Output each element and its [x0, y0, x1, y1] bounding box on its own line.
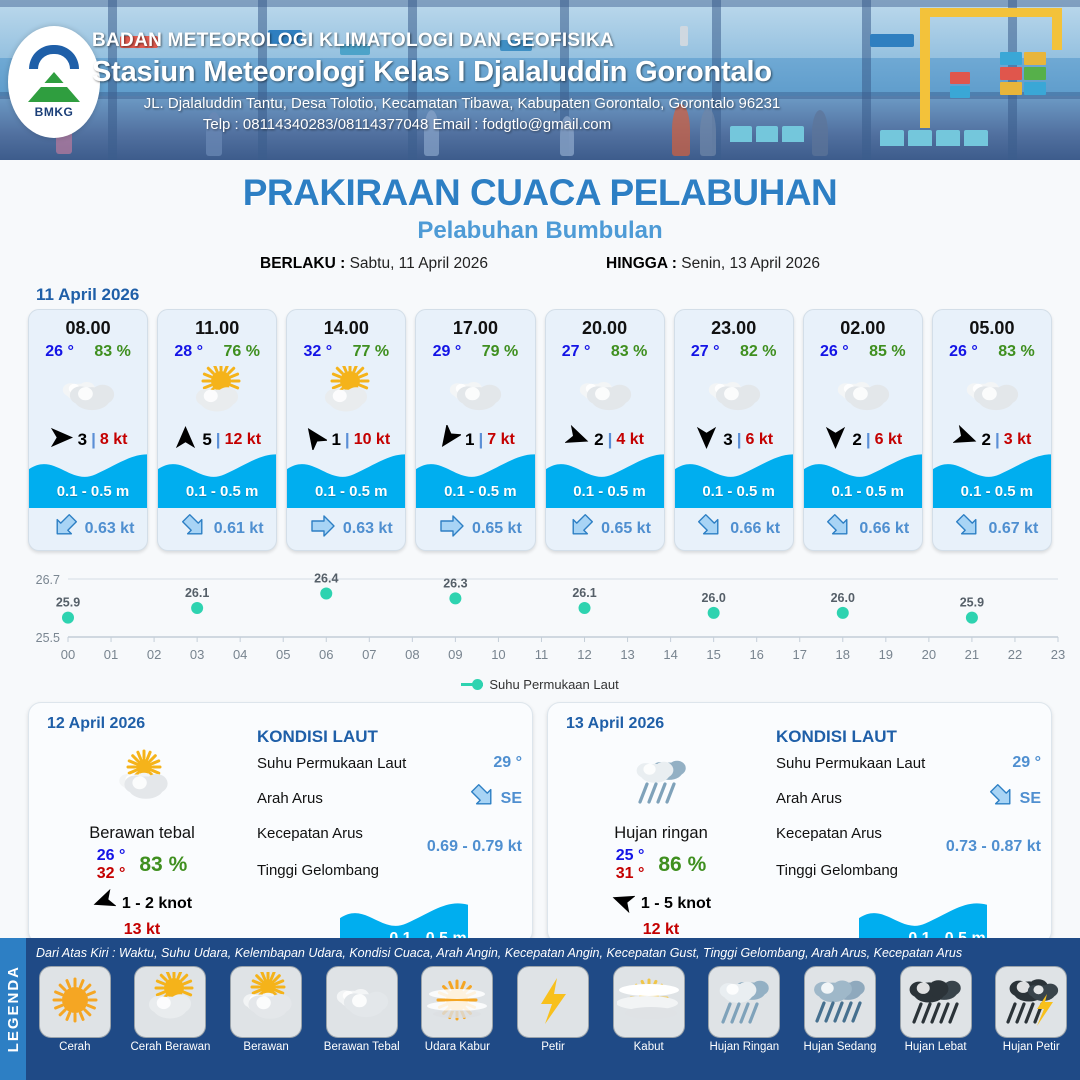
- legend-icon-box: [421, 966, 493, 1038]
- current-direction-arrow-icon: [52, 513, 78, 539]
- crane-icon: [920, 8, 1060, 17]
- card-humidity: 76 %: [224, 343, 260, 361]
- card-temp-hum-row: 29 ° 79 %: [416, 343, 534, 361]
- card-current-direction: [310, 513, 336, 544]
- hourly-forecast-card: 08.00 26 ° 83 % 3 | 8 kt 0.1 - 0.5 m: [28, 309, 148, 551]
- card-wave-zone: 0.1 - 0.5 m: [158, 450, 277, 508]
- legend-item-label: Berawan: [221, 1041, 311, 1053]
- wind-direction-arrow-icon: [436, 425, 461, 450]
- legend-item: Cerah Berawan: [126, 966, 216, 1053]
- cerah-icon: [43, 972, 107, 1033]
- sea-conditions-title: KONDISI LAUT: [776, 727, 1041, 747]
- daily-condition: Hujan ringan: [556, 824, 766, 843]
- legend-icon-box: [230, 966, 302, 1038]
- card-current-direction: [568, 513, 594, 544]
- container-icon: [1000, 52, 1022, 65]
- card-humidity: 83 %: [94, 343, 130, 361]
- svg-text:26.1: 26.1: [572, 586, 596, 600]
- svg-text:18: 18: [836, 647, 850, 662]
- svg-text:26.1: 26.1: [185, 586, 209, 600]
- sea-conditions-title: KONDISI LAUT: [257, 727, 522, 747]
- card-humidity: 79 %: [482, 343, 518, 361]
- card-current-speed: 0.65 kt: [601, 520, 651, 538]
- svg-text:20: 20: [922, 647, 936, 662]
- current-direction-arrow-icon: [955, 513, 981, 539]
- wind-gust-separator: |: [479, 430, 484, 450]
- card-current-speed: 0.66 kt: [859, 520, 909, 538]
- legend-item-label: Cerah Berawan: [126, 1041, 216, 1053]
- card-current-row: 0.61 kt: [158, 513, 277, 544]
- daily-summary: Hujan ringan 25 ° 31 ° 86 % 1 - 5 knot 1…: [556, 743, 766, 939]
- svg-text:05: 05: [276, 647, 290, 662]
- svg-text:22: 22: [1008, 647, 1022, 662]
- card-temperature: 27 °: [562, 343, 591, 361]
- daily-humidity: 83 %: [139, 853, 187, 877]
- svg-text:08: 08: [405, 647, 419, 662]
- card-current-direction: [52, 513, 78, 544]
- card-temperature: 27 °: [691, 343, 720, 361]
- current-direction-row: Arah Arus SE: [776, 783, 1041, 814]
- legend-item: Udara Kabur: [413, 966, 503, 1053]
- card-wave-height: 0.1 - 0.5 m: [804, 483, 923, 500]
- legend-item-label: Hujan Lebat: [891, 1041, 981, 1053]
- card-humidity: 82 %: [740, 343, 776, 361]
- card-wave-zone: 0.1 - 0.5 m: [416, 450, 535, 508]
- card-humidity: 85 %: [869, 343, 905, 361]
- sst-row: Suhu Permukaan Laut 29 °: [257, 754, 522, 772]
- petir-icon: [521, 972, 585, 1033]
- validity-row: BERLAKU : Sabtu, 11 April 2026 HINGGA : …: [0, 255, 1080, 273]
- card-wind-gust: 3 kt: [1004, 431, 1032, 449]
- container-icon: [1024, 82, 1046, 95]
- card-temp-hum-row: 28 ° 76 %: [158, 343, 276, 361]
- card-weather-icon: [416, 365, 534, 421]
- container-icon: [1024, 67, 1046, 80]
- hourly-forecast-card: 11.00 28 ° 76 % 5 | 12 kt 0.1 - 0.5 m: [157, 309, 277, 551]
- card-wave-zone: 0.1 - 0.5 m: [675, 450, 794, 508]
- hujan-sedang-icon: [808, 972, 872, 1033]
- daily-forecast-row: 12 April 2026 Berawan tebal 26 ° 32 ° 83…: [0, 692, 1080, 944]
- current-direction-arrow-icon: [439, 513, 465, 539]
- daily-temp-hum: 25 ° 31 ° 86 %: [556, 847, 766, 883]
- card-wind-gust: 8 kt: [100, 431, 128, 449]
- card-wave-height: 0.1 - 0.5 m: [29, 483, 148, 500]
- card-time: 23.00: [675, 310, 793, 339]
- valid-from: BERLAKU : Sabtu, 11 April 2026: [260, 255, 488, 273]
- sea-conditions: KONDISI LAUT Suhu Permukaan Laut 29 ° Ar…: [776, 727, 1041, 879]
- card-temp-hum-row: 26 ° 83 %: [29, 343, 147, 361]
- legend-icon-box: [708, 966, 780, 1038]
- svg-text:16: 16: [749, 647, 763, 662]
- card-weather-icon: [933, 365, 1051, 421]
- container-icon: [1000, 67, 1022, 80]
- sst-row: Suhu Permukaan Laut 29 °: [776, 754, 1041, 772]
- agency-name: BADAN METEOROLOGI KLIMATOLOGI DAN GEOFIS…: [92, 30, 952, 52]
- legend-item-label: Udara Kabur: [413, 1041, 503, 1053]
- crane-icon: [1052, 8, 1062, 50]
- container-icon: [1000, 82, 1022, 95]
- title-block: PRAKIRAAN CUACA PELABUHAN Pelabuhan Bumb…: [0, 160, 1080, 273]
- card-temp-hum-row: 26 ° 83 %: [933, 343, 1051, 361]
- card-current-row: 0.67 kt: [933, 513, 1052, 544]
- card-wind-speed: 3: [78, 430, 87, 450]
- card-humidity: 83 %: [998, 343, 1034, 361]
- card-weather-icon: [287, 365, 405, 421]
- card-wave-height: 0.1 - 0.5 m: [933, 483, 1052, 500]
- legend-item-label: Cerah: [30, 1041, 120, 1053]
- hourly-forecast-card: 02.00 26 ° 85 % 2 | 6 kt 0.1 - 0.5 m: [803, 309, 923, 551]
- legend-item-label: Petir: [508, 1041, 598, 1053]
- bmkg-logo: BMKG: [8, 26, 100, 138]
- card-wave-zone: 0.1 - 0.5 m: [933, 450, 1052, 508]
- station-contact: Telp : 08114340283/08114377048 Email : f…: [92, 116, 952, 133]
- card-weather-icon: [804, 365, 922, 421]
- current-speed-block: Kecepatan Arus 0.73 - 0.87 kt: [776, 825, 1041, 856]
- card-current-direction: [181, 513, 207, 544]
- daily-condition: Berawan tebal: [37, 824, 247, 843]
- legend-item-label: Hujan Petir: [986, 1041, 1076, 1053]
- svg-text:09: 09: [448, 647, 462, 662]
- current-direction-arrow-icon: [697, 513, 723, 539]
- logo-triangle-icon: [28, 72, 80, 102]
- daily-temp-min: 26 °: [97, 847, 126, 865]
- wind-direction-arrow-icon: [173, 425, 198, 450]
- daily-forecast-panel: 12 April 2026 Berawan tebal 26 ° 32 ° 83…: [28, 702, 533, 944]
- svg-text:26.3: 26.3: [443, 576, 467, 590]
- valid-from-label: BERLAKU :: [260, 255, 345, 272]
- logo-arc-icon: [29, 45, 79, 69]
- sst-label: Suhu Permukaan Laut: [257, 755, 406, 772]
- svg-text:19: 19: [879, 647, 893, 662]
- wind-gust-separator: |: [608, 430, 613, 450]
- daily-weather-icon: [556, 743, 766, 822]
- svg-text:17: 17: [793, 647, 807, 662]
- legend-icon-box: [326, 966, 398, 1038]
- card-temp-hum-row: 32 ° 77 %: [287, 343, 405, 361]
- daily-wind-row: 1 - 5 knot: [556, 889, 766, 918]
- daily-temp-max: 32 °: [97, 865, 126, 883]
- container-icon: [950, 86, 970, 98]
- wind-gust-separator: |: [737, 430, 742, 450]
- legend-label: Suhu Permukaan Laut: [489, 677, 618, 692]
- card-current-speed: 0.66 kt: [730, 520, 780, 538]
- kabut-icon: [617, 972, 681, 1033]
- daily-date: 13 April 2026: [566, 715, 664, 733]
- hourly-date-label: 11 April 2026: [36, 285, 1080, 305]
- card-time: 02.00: [804, 310, 922, 339]
- berawan-icon: [234, 972, 298, 1033]
- card-wave-height: 0.1 - 0.5 m: [546, 483, 665, 500]
- card-current-speed: 0.65 kt: [472, 520, 522, 538]
- station-address: JL. Djalaluddin Tantu, Desa Tolotio, Kec…: [92, 95, 952, 112]
- svg-text:02: 02: [147, 647, 161, 662]
- legend-marker-icon: [461, 683, 483, 686]
- wave-height-label: Tinggi Gelombang: [776, 862, 1041, 879]
- legend-icon-box: [995, 966, 1067, 1038]
- berawan-tebal-icon: [330, 972, 394, 1033]
- sst-value: 29 °: [1012, 754, 1041, 772]
- hourly-forecast-card: 17.00 29 ° 79 % 1 | 7 kt 0.1 - 0.5 m: [415, 309, 535, 551]
- svg-text:01: 01: [104, 647, 118, 662]
- legenda-side-label: LEGENDA: [5, 965, 22, 1052]
- card-temperature: 29 °: [433, 343, 462, 361]
- card-temperature: 28 °: [174, 343, 203, 361]
- window-mullion: [1008, 0, 1017, 160]
- daily-wind-direction: [611, 889, 635, 918]
- legenda-note: Dari Atas Kiri : Waktu, Suhu Udara, Kele…: [36, 946, 962, 960]
- hourly-forecast-card: 23.00 27 ° 82 % 3 | 6 kt 0.1 - 0.5 m: [674, 309, 794, 551]
- legend-item: Kabut: [604, 966, 694, 1053]
- card-wave-height: 0.1 - 0.5 m: [416, 483, 535, 500]
- card-current-speed: 0.67 kt: [988, 520, 1038, 538]
- card-temp-hum-row: 27 ° 83 %: [546, 343, 664, 361]
- current-direction-row: Arah Arus SE: [257, 783, 522, 814]
- card-current-row: 0.66 kt: [804, 513, 923, 544]
- card-current-direction: [439, 513, 465, 544]
- card-temp-hum-row: 26 ° 85 %: [804, 343, 922, 361]
- valid-until: HINGGA : Senin, 13 April 2026: [606, 255, 820, 273]
- hourly-forecast-card: 05.00 26 ° 83 % 2 | 3 kt 0.1 - 0.5 m: [932, 309, 1052, 551]
- card-temperature: 26 °: [45, 343, 74, 361]
- card-wind-speed: 2: [982, 430, 991, 450]
- card-wind-speed: 2: [852, 430, 861, 450]
- card-wind-gust: 4 kt: [616, 431, 644, 449]
- wind-direction-arrow-icon: [953, 425, 978, 450]
- svg-text:26.0: 26.0: [831, 591, 855, 605]
- legend-item: Hujan Lebat: [891, 966, 981, 1053]
- wind-gust-separator: |: [866, 430, 871, 450]
- current-direction-arrow-icon: [989, 783, 1015, 809]
- legend-item: Hujan Ringan: [699, 966, 789, 1053]
- card-wind-speed: 1: [331, 430, 340, 450]
- daily-temp-range: 26 ° 32 °: [97, 847, 126, 883]
- card-current-speed: 0.63 kt: [85, 520, 135, 538]
- hujan-lebat-icon: [904, 972, 968, 1033]
- legend-item: Hujan Petir: [986, 966, 1076, 1053]
- wind-gust-separator: |: [91, 430, 96, 450]
- wind-direction-arrow-icon: [92, 889, 116, 913]
- terminal-chair: [964, 130, 988, 146]
- card-wind-gust: 6 kt: [746, 431, 774, 449]
- hourly-forecast-card: 14.00 32 ° 77 % 1 | 10 kt 0.1 - 0.5 m: [286, 309, 406, 551]
- daily-wind-direction: [92, 889, 116, 918]
- logo-label: BMKG: [35, 105, 74, 119]
- current-direction-label: Arah Arus: [776, 790, 842, 807]
- current-direction-value: SE: [1020, 790, 1041, 808]
- svg-text:26.0: 26.0: [701, 591, 725, 605]
- daily-temp-min: 25 °: [616, 847, 645, 865]
- daily-wind-range: 1 - 5 knot: [641, 895, 711, 913]
- svg-text:15: 15: [706, 647, 720, 662]
- card-humidity: 77 %: [353, 343, 389, 361]
- card-current-row: 0.65 kt: [416, 513, 535, 544]
- wind-direction-arrow-icon: [694, 425, 719, 450]
- sea-conditions: KONDISI LAUT Suhu Permukaan Laut 29 ° Ar…: [257, 727, 522, 879]
- wind-direction-arrow-icon: [302, 425, 327, 450]
- current-direction-icon-wrap: [989, 783, 1015, 814]
- card-current-direction: [697, 513, 723, 544]
- card-current-row: 0.65 kt: [546, 513, 665, 544]
- daily-summary: Berawan tebal 26 ° 32 ° 83 % 1 - 2 knot …: [37, 743, 247, 939]
- legend-icon-box: [900, 966, 972, 1038]
- current-speed-block: Kecepatan Arus 0.69 - 0.79 kt: [257, 825, 522, 856]
- card-current-direction: [955, 513, 981, 544]
- svg-text:03: 03: [190, 647, 204, 662]
- svg-text:11: 11: [535, 647, 549, 662]
- current-direction-value-group: SE: [989, 783, 1041, 814]
- legend-item-label: Berawan Tebal: [317, 1041, 407, 1053]
- svg-text:25.9: 25.9: [960, 596, 984, 610]
- daily-forecast-panel: 13 April 2026 Hujan ringan 25 ° 31 ° 86 …: [547, 702, 1052, 944]
- wind-direction-arrow-icon: [565, 425, 590, 450]
- sst-chart: 26.725.500010203040506070809101112131415…: [10, 565, 1070, 675]
- legend-item-label: Hujan Sedang: [795, 1041, 885, 1053]
- wind-gust-separator: |: [995, 430, 1000, 450]
- legend-icon-box: [804, 966, 876, 1038]
- hourly-forecast-row: 08.00 26 ° 83 % 3 | 8 kt 0.1 - 0.5 m: [0, 309, 1080, 551]
- container-icon: [1024, 52, 1046, 65]
- daily-humidity: 86 %: [658, 853, 706, 877]
- legend-item-label: Kabut: [604, 1041, 694, 1053]
- card-current-row: 0.63 kt: [287, 513, 406, 544]
- current-direction-arrow-icon: [470, 783, 496, 809]
- svg-text:25.9: 25.9: [56, 596, 80, 610]
- daily-temp-range: 25 ° 31 °: [616, 847, 645, 883]
- card-weather-icon: [675, 365, 793, 421]
- daily-wind-gust: 12 kt: [556, 921, 766, 939]
- card-wind-speed: 1: [465, 430, 474, 450]
- current-direction-value: SE: [501, 790, 522, 808]
- card-wave-zone: 0.1 - 0.5 m: [29, 450, 148, 508]
- svg-text:07: 07: [362, 647, 376, 662]
- card-current-row: 0.66 kt: [675, 513, 794, 544]
- svg-text:00: 00: [61, 647, 75, 662]
- legend-item: Hujan Sedang: [795, 966, 885, 1053]
- card-temperature: 26 °: [820, 343, 849, 361]
- window-beam: [0, 0, 1080, 7]
- svg-text:10: 10: [491, 647, 505, 662]
- card-temperature: 32 °: [304, 343, 333, 361]
- valid-until-label: HINGGA :: [606, 255, 677, 272]
- card-wind-gust: 7 kt: [487, 431, 515, 449]
- page-header: BMKG BADAN METEOROLOGI KLIMATOLOGI DAN G…: [0, 0, 1080, 160]
- legend-item: Berawan Tebal: [317, 966, 407, 1053]
- legend-item: Petir: [508, 966, 598, 1053]
- svg-text:14: 14: [663, 647, 677, 662]
- card-weather-icon: [546, 365, 664, 421]
- valid-until-value: Senin, 13 April 2026: [681, 255, 820, 272]
- card-current-speed: 0.61 kt: [214, 520, 264, 538]
- daily-weather-icon: [37, 743, 247, 822]
- page-title: PRAKIRAAN CUACA PELABUHAN: [0, 172, 1080, 214]
- card-wind-speed: 3: [723, 430, 732, 450]
- daily-date: 12 April 2026: [47, 715, 145, 733]
- legend-icon-box: [39, 966, 111, 1038]
- sst-label: Suhu Permukaan Laut: [776, 755, 925, 772]
- daily-wind-row: 1 - 2 knot: [37, 889, 247, 918]
- legenda-side-tab: LEGENDA: [0, 938, 26, 1080]
- card-current-speed: 0.63 kt: [343, 520, 393, 538]
- legend-icon-box: [134, 966, 206, 1038]
- station-name: Stasiun Meteorologi Kelas I Djalaluddin …: [92, 56, 952, 89]
- card-humidity: 83 %: [611, 343, 647, 361]
- svg-text:06: 06: [319, 647, 333, 662]
- card-temperature: 26 °: [949, 343, 978, 361]
- card-time: 20.00: [546, 310, 664, 339]
- daily-wind-range: 1 - 2 knot: [122, 895, 192, 913]
- legend-item: Cerah: [30, 966, 120, 1053]
- legend-item: Berawan: [221, 966, 311, 1053]
- svg-text:04: 04: [233, 647, 247, 662]
- card-weather-icon: [158, 365, 276, 421]
- svg-text:26.7: 26.7: [36, 573, 60, 587]
- card-time: 11.00: [158, 310, 276, 339]
- hujan-ringan-icon: [712, 972, 776, 1033]
- hujan-petir-icon: [999, 972, 1063, 1033]
- svg-text:12: 12: [577, 647, 591, 662]
- card-wave-height: 0.1 - 0.5 m: [287, 483, 406, 500]
- svg-text:26.4: 26.4: [314, 572, 338, 586]
- current-direction-arrow-icon: [181, 513, 207, 539]
- cerah-berawan-icon: [138, 972, 202, 1033]
- card-time: 05.00: [933, 310, 1051, 339]
- valid-from-value: Sabtu, 11 April 2026: [350, 255, 488, 272]
- daily-temp-hum: 26 ° 32 ° 83 %: [37, 847, 247, 883]
- card-time: 17.00: [416, 310, 534, 339]
- card-wave-zone: 0.1 - 0.5 m: [287, 450, 406, 508]
- current-direction-label: Arah Arus: [257, 790, 323, 807]
- legenda-items: Cerah Cerah Berawan Berawan: [30, 966, 1076, 1053]
- card-wind-speed: 5: [202, 430, 211, 450]
- daily-temp-max: 31 °: [616, 865, 645, 883]
- card-time: 14.00: [287, 310, 405, 339]
- card-wind-gust: 12 kt: [225, 431, 261, 449]
- card-weather-icon: [29, 365, 147, 421]
- wind-direction-arrow-icon: [611, 889, 635, 913]
- header-text-block: BADAN METEOROLOGI KLIMATOLOGI DAN GEOFIS…: [92, 30, 952, 133]
- udara-kabur-icon: [425, 972, 489, 1033]
- card-wave-zone: 0.1 - 0.5 m: [546, 450, 665, 508]
- current-direction-value-group: SE: [470, 783, 522, 814]
- daily-wind-gust: 13 kt: [37, 921, 247, 939]
- card-wave-height: 0.1 - 0.5 m: [158, 483, 277, 500]
- chart-legend: Suhu Permukaan Laut: [0, 677, 1080, 692]
- svg-text:23: 23: [1051, 647, 1065, 662]
- svg-text:21: 21: [965, 647, 979, 662]
- sst-value: 29 °: [493, 754, 522, 772]
- card-time: 08.00: [29, 310, 147, 339]
- card-wave-height: 0.1 - 0.5 m: [675, 483, 794, 500]
- card-current-row: 0.63 kt: [29, 513, 148, 544]
- card-wave-zone: 0.1 - 0.5 m: [804, 450, 923, 508]
- card-temp-hum-row: 27 ° 82 %: [675, 343, 793, 361]
- current-direction-arrow-icon: [826, 513, 852, 539]
- wave-height-label: Tinggi Gelombang: [257, 862, 522, 879]
- legend-icon-box: [613, 966, 685, 1038]
- legend-item-label: Hujan Ringan: [699, 1041, 789, 1053]
- current-direction-arrow-icon: [310, 513, 336, 539]
- svg-text:13: 13: [620, 647, 634, 662]
- hourly-forecast-card: 20.00 27 ° 83 % 2 | 4 kt 0.1 - 0.5 m: [545, 309, 665, 551]
- wind-direction-arrow-icon: [49, 425, 74, 450]
- page-subtitle: Pelabuhan Bumbulan: [0, 217, 1080, 245]
- card-wind-gust: 6 kt: [875, 431, 903, 449]
- card-wind-speed: 2: [594, 430, 603, 450]
- wind-gust-separator: |: [216, 430, 221, 450]
- container-icon: [950, 72, 970, 84]
- current-direction-icon-wrap: [470, 783, 496, 814]
- svg-text:25.5: 25.5: [36, 631, 60, 645]
